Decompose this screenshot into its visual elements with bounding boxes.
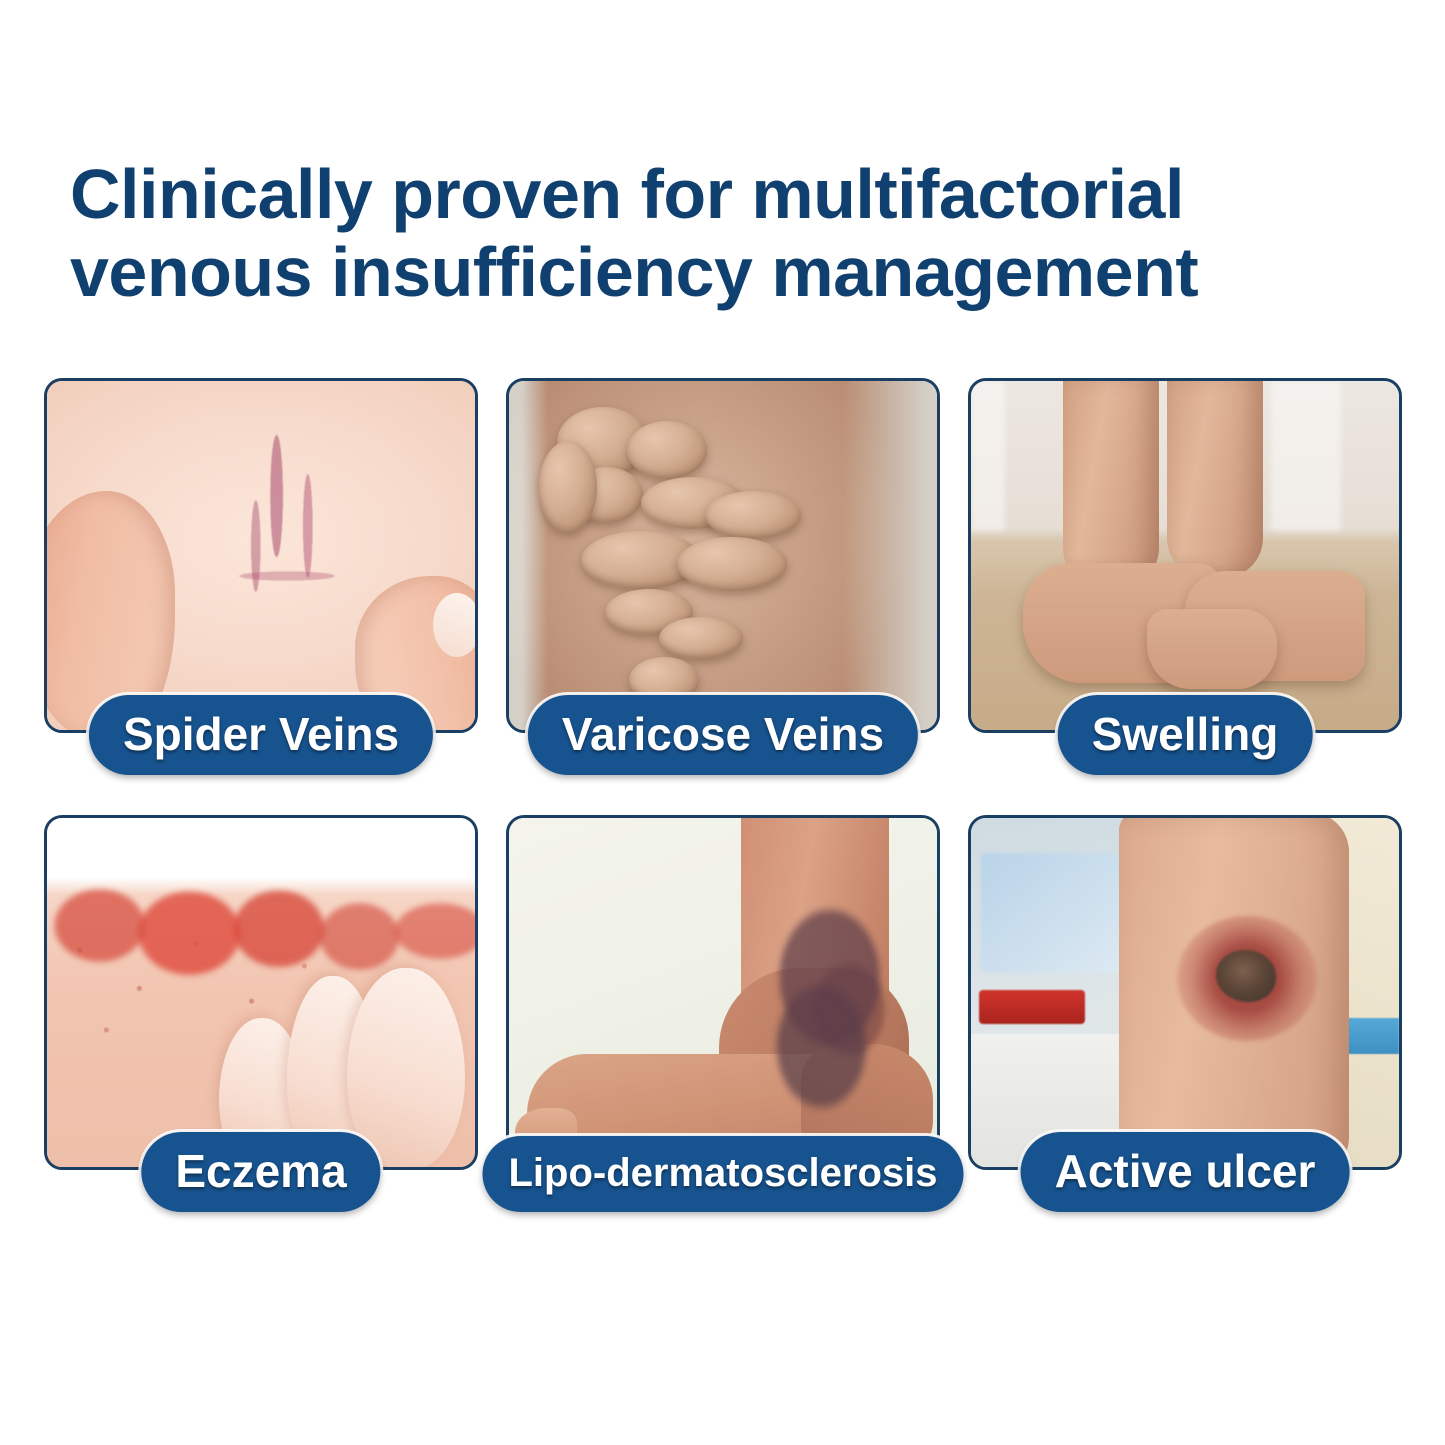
vein-bulge (659, 617, 743, 659)
card-label-lipodermatosclerosis[interactable]: Lipo-dermatosclerosis (482, 1136, 963, 1212)
background-blur (1271, 381, 1341, 531)
pigmented-hardened-skin (757, 890, 897, 1120)
swelling-photo (971, 381, 1399, 730)
card-label-active-ulcer[interactable]: Active ulcer (1021, 1132, 1350, 1212)
varicose-veins-photo (509, 381, 937, 730)
right-leg (1167, 381, 1263, 578)
vein-bulge (539, 441, 597, 533)
spider-veins-photo (47, 381, 475, 730)
front-foot-toes (1147, 609, 1277, 689)
active-ulcer-photo (971, 818, 1399, 1167)
condition-card-grid: Spider Veins Varicose Veins (44, 378, 1402, 1170)
card-label-varicose-veins[interactable]: Varicose Veins (528, 695, 918, 775)
left-leg (1063, 381, 1159, 588)
finger (347, 968, 465, 1167)
card-label-eczema[interactable]: Eczema (141, 1132, 380, 1212)
lipodermatosclerosis-photo (509, 818, 937, 1167)
medical-supplies (981, 853, 1121, 973)
page-title-line-1: Clinically proven for multifactorial (70, 155, 1184, 233)
thumbnail (433, 593, 475, 657)
vein-bulge (705, 491, 801, 539)
eczema-photo (47, 818, 475, 1167)
condition-card-swelling[interactable]: Swelling (968, 378, 1402, 733)
page-title-line-2: venous insufficiency management (70, 233, 1390, 311)
condition-card-varicose-veins[interactable]: Varicose Veins (506, 378, 940, 733)
card-label-spider-veins[interactable]: Spider Veins (89, 695, 433, 775)
vein-bulge (627, 421, 707, 479)
card-label-swelling[interactable]: Swelling (1058, 695, 1313, 775)
background-blur (971, 381, 1005, 531)
condition-card-eczema[interactable]: Eczema (44, 815, 478, 1170)
condition-card-spider-veins[interactable]: Spider Veins (44, 378, 478, 733)
condition-card-lipodermatosclerosis[interactable]: Lipo-dermatosclerosis (506, 815, 940, 1170)
condition-card-active-ulcer[interactable]: Active ulcer (968, 815, 1402, 1170)
red-container (979, 990, 1085, 1024)
ulcer-wound (1216, 950, 1276, 1002)
page-title: Clinically proven for multifactorial ven… (70, 155, 1390, 312)
vein-bulge (677, 537, 787, 591)
